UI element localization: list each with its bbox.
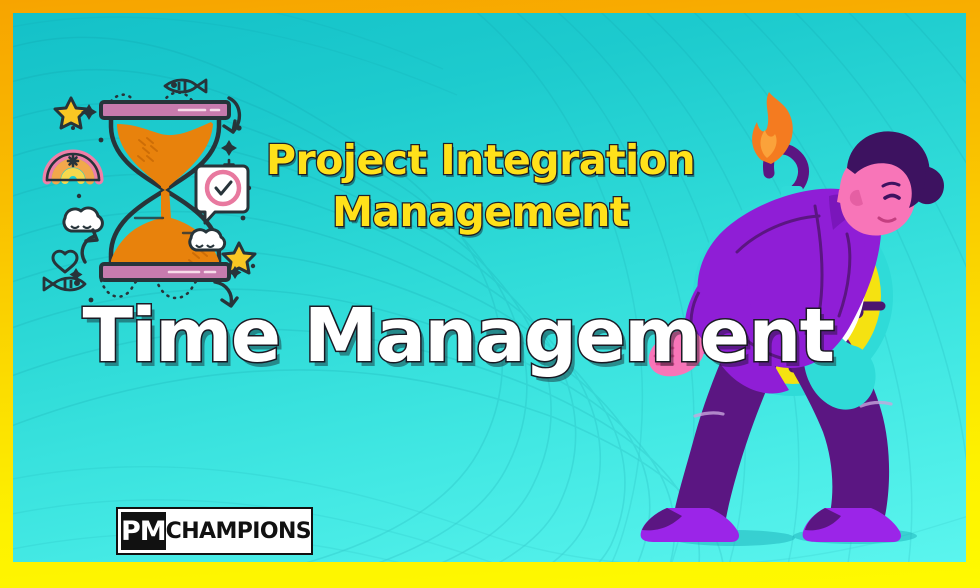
logo-wordmark: CHAMPIONS: [166, 512, 311, 550]
doodle-arrow-left: [82, 230, 97, 262]
banner-canvas: Project Integration Management Time Mana…: [13, 13, 966, 562]
logo-mark: PM: [121, 512, 166, 550]
doodle-cloud-right: [190, 230, 225, 250]
doodle-heart: [53, 251, 77, 272]
doodle-fish-top-right: [165, 80, 206, 92]
pm-champions-logo[interactable]: PM CHAMPIONS: [116, 507, 313, 555]
hourglass-doodle-illustration: [43, 68, 288, 313]
doodle-arrow-bottom-right: [215, 282, 237, 306]
businessman-carrying-bomb-clock: [633, 38, 966, 553]
doodle-star-top-left: [55, 98, 87, 128]
doodle-cloud-left: [64, 208, 102, 231]
doodle-fish-bottom-left: [44, 278, 85, 290]
clock-speech-bubble-icon: [196, 166, 248, 223]
banner-frame: Project Integration Management Time Mana…: [0, 0, 980, 588]
hourglass-cap-top: [101, 102, 229, 118]
hand: [649, 330, 705, 376]
head: [837, 131, 944, 235]
hourglass-cap-bottom: [101, 264, 229, 280]
